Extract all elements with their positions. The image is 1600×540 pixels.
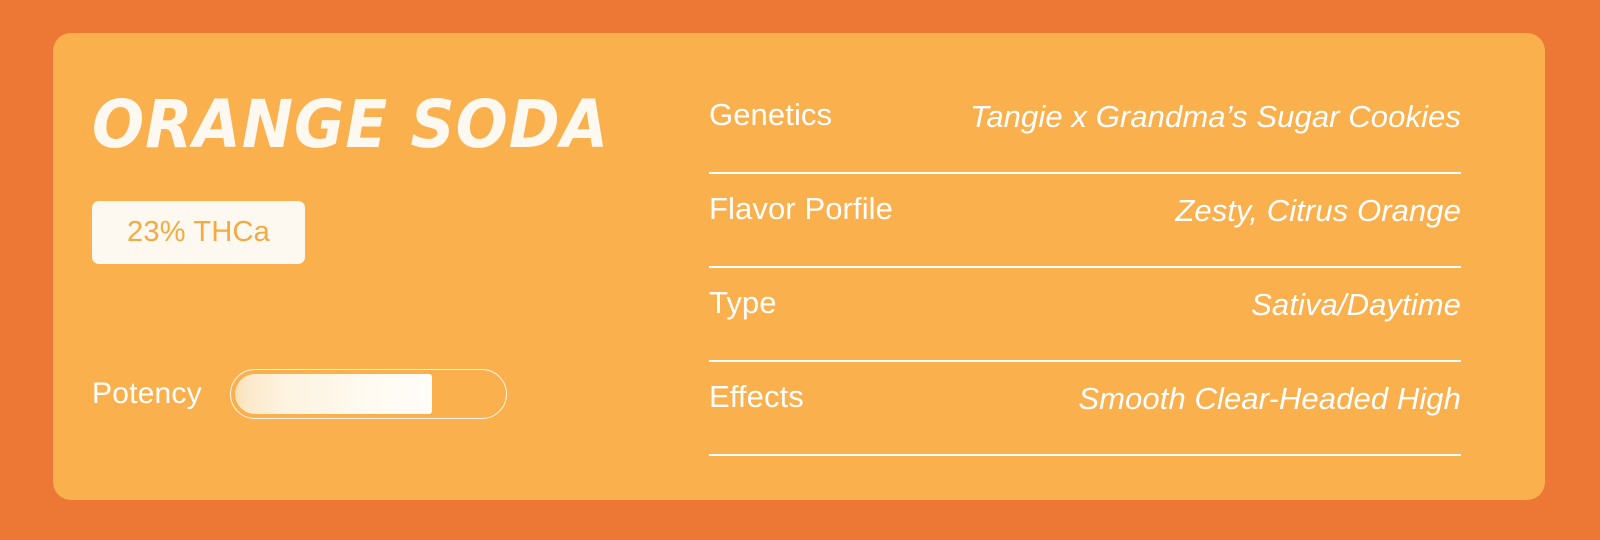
detail-row-flavor-profile: Flavor Porfile Zesty, Citrus Orange	[709, 174, 1461, 268]
detail-label: Effects	[709, 362, 804, 417]
detail-value: Zesty, Citrus Orange	[1175, 174, 1461, 231]
product-summary-column: ORANGE SODA 23% THCa Potency	[92, 33, 712, 500]
detail-list: Genetics Tangie x Grandma’s Sugar Cookie…	[709, 80, 1461, 456]
detail-row-genetics: Genetics Tangie x Grandma’s Sugar Cookie…	[709, 80, 1461, 174]
strain-info-card: ORANGE SODA 23% THCa Potency Genetics Ta…	[53, 33, 1545, 500]
detail-row-effects: Effects Smooth Clear-Headed High	[709, 362, 1461, 456]
detail-value: Sativa/Daytime	[1251, 268, 1461, 325]
detail-row-type: Type Sativa/Daytime	[709, 268, 1461, 362]
detail-label: Flavor Porfile	[709, 174, 893, 229]
potency-meter: Potency	[92, 366, 507, 422]
thca-badge: 23% THCa	[92, 201, 305, 264]
detail-label: Genetics	[709, 80, 832, 135]
detail-value: Smooth Clear-Headed High	[1078, 362, 1461, 419]
potency-track	[230, 369, 507, 419]
page-title: ORANGE SODA	[92, 87, 609, 163]
detail-value: Tangie x Grandma’s Sugar Cookies	[970, 80, 1461, 137]
thca-badge-label: 23% THCa	[127, 216, 270, 249]
detail-label: Type	[709, 268, 777, 323]
potency-label: Potency	[92, 377, 202, 411]
potency-fill	[235, 374, 432, 414]
